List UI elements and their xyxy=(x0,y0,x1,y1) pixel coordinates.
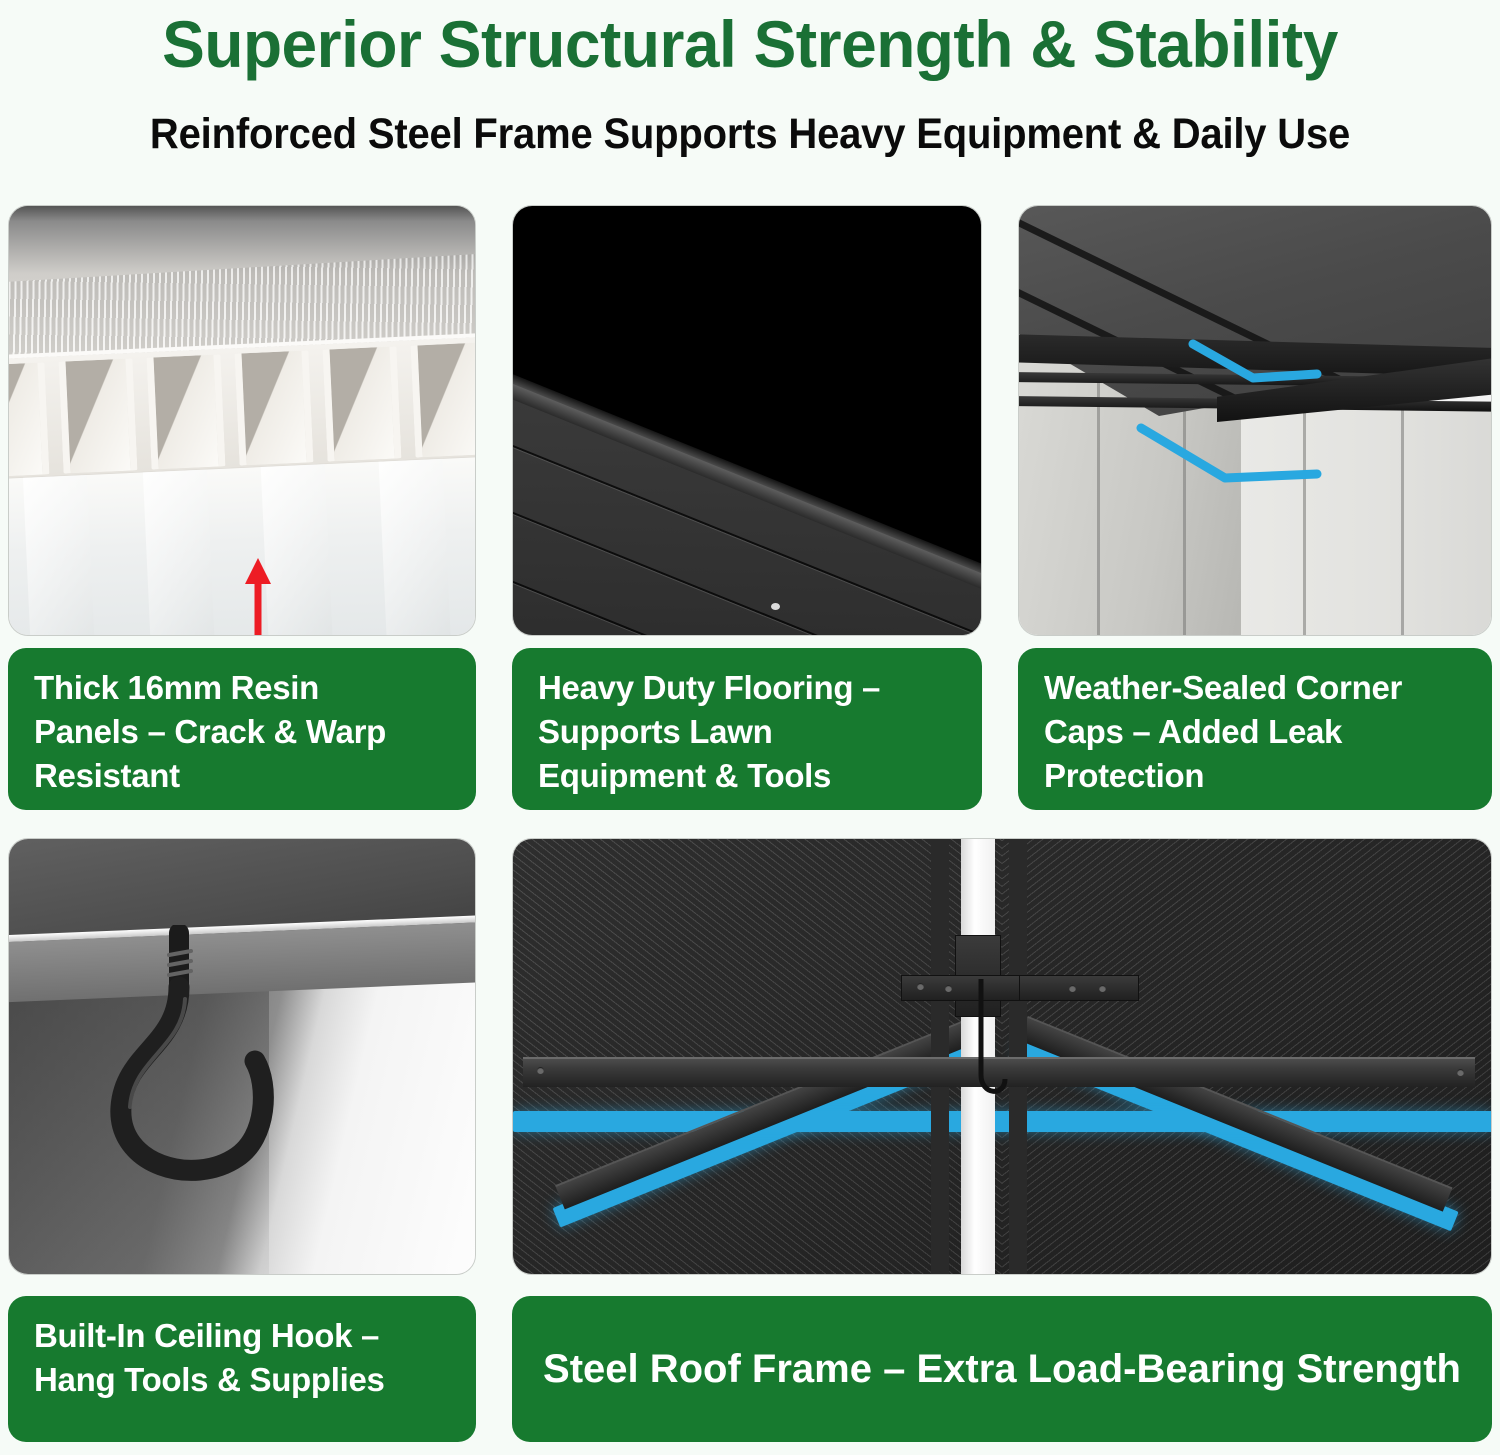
feature-caption-heavy-duty-flooring: Heavy Duty Flooring – Supports Lawn Equi… xyxy=(512,648,982,810)
caption-line: Steel Roof Frame – Extra Load-Bearing St… xyxy=(543,1347,1461,1391)
caption-line: Supports Lawn xyxy=(538,710,956,754)
page-subtitle: Reinforced Steel Frame Supports Heavy Eq… xyxy=(53,108,1448,160)
roof-hanging-hook-icon xyxy=(965,979,1025,1119)
caption-line: Protection xyxy=(1044,754,1466,798)
feature-image-corner-caps xyxy=(1018,205,1492,636)
feature-caption-corner-caps: Weather-Sealed Corner Caps – Added Leak … xyxy=(1018,648,1492,810)
ceiling-hook-icon xyxy=(97,925,357,1225)
caption-line: Thick 16mm Resin xyxy=(34,666,450,710)
caption-line: Equipment & Tools xyxy=(538,754,956,798)
bolt xyxy=(1099,985,1106,992)
infographic-page: Superior Structural Strength & Stability… xyxy=(0,0,1500,1455)
bolt xyxy=(917,983,924,990)
bolt xyxy=(537,1067,544,1074)
caption-line: Caps – Added Leak xyxy=(1044,710,1466,754)
caption-line: Weather-Sealed Corner xyxy=(1044,666,1466,710)
caption-line: Heavy Duty Flooring – xyxy=(538,666,956,710)
feature-image-resin-panels: 16mm xyxy=(8,205,476,636)
feature-image-heavy-duty-flooring xyxy=(512,205,982,636)
bolt xyxy=(1069,985,1076,992)
feature-image-ceiling-hook xyxy=(8,838,476,1275)
feature-image-steel-roof-frame xyxy=(512,838,1492,1275)
caption-line: Panels – Crack & Warp xyxy=(34,710,450,754)
caption-line: Resistant xyxy=(34,754,450,798)
page-title: Superior Structural Strength & Stability xyxy=(23,4,1478,84)
dimension-arrow-icon xyxy=(241,558,275,636)
caption-line: Built-In Ceiling Hook – xyxy=(34,1314,450,1358)
bolt xyxy=(945,985,952,992)
feature-caption-steel-roof-frame: Steel Roof Frame – Extra Load-Bearing St… xyxy=(512,1296,1492,1442)
bolt xyxy=(1457,1069,1464,1076)
flooring-screw-icon xyxy=(771,603,780,610)
rafter-plate-right xyxy=(1019,975,1139,1001)
caption-line: Hang Tools & Supplies xyxy=(34,1358,450,1402)
feature-caption-ceiling-hook: Built-In Ceiling Hook – Hang Tools & Sup… xyxy=(8,1296,476,1442)
feature-caption-resin-panels: Thick 16mm Resin Panels – Crack & Warp R… xyxy=(8,648,476,810)
highlight-indicator-lines xyxy=(1019,206,1492,636)
